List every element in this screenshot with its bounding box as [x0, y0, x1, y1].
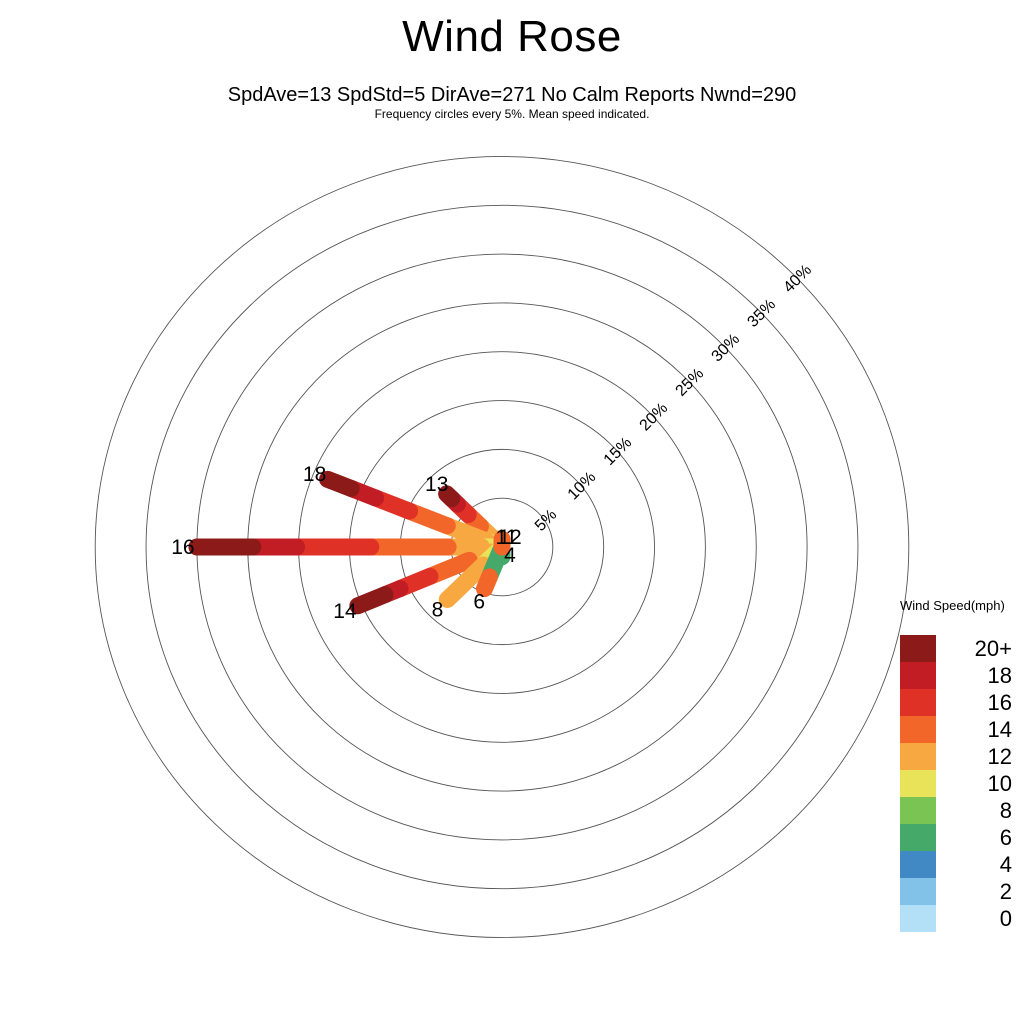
- legend-row: 0: [900, 905, 1018, 932]
- legend-entries: 20+181614121086420: [900, 635, 1018, 932]
- petal-segment: [358, 595, 385, 606]
- legend-label: 14: [936, 716, 1018, 743]
- legend-row: 2: [900, 878, 1018, 905]
- legend-label: 6: [936, 824, 1018, 851]
- legend-color-swatch: [900, 878, 936, 905]
- legend-label: 2: [936, 878, 1018, 905]
- legend-color-swatch: [900, 824, 936, 851]
- petal-segment: [328, 479, 352, 488]
- legend-title: Wind Speed(mph): [900, 598, 1024, 613]
- legend-color-swatch: [900, 797, 936, 824]
- legend-label: 16: [936, 689, 1018, 716]
- legend-label: 8: [936, 797, 1018, 824]
- petal-mean-speed-label: 8: [432, 598, 444, 621]
- legend: Wind Speed(mph) 20+181614121086420: [900, 598, 1024, 932]
- legend-row: 18: [900, 662, 1018, 689]
- legend-row: 16: [900, 689, 1018, 716]
- petal-segment: [484, 577, 489, 589]
- legend-color-swatch: [900, 662, 936, 689]
- petal-mean-speed-label: 12: [498, 526, 521, 549]
- legend-label: 20+: [936, 635, 1018, 662]
- legend-row: 12: [900, 743, 1018, 770]
- legend-row: 10: [900, 770, 1018, 797]
- legend-color-swatch: [900, 716, 936, 743]
- legend-label: 18: [936, 662, 1018, 689]
- legend-label: 10: [936, 770, 1018, 797]
- petal-mean-speed-label: 18: [303, 463, 326, 486]
- legend-color-swatch: [900, 905, 936, 932]
- legend-row: 8: [900, 797, 1018, 824]
- legend-color-swatch: [900, 635, 936, 662]
- legend-row: 6: [900, 824, 1018, 851]
- wind-rose-page: Wind Rose SpdAve=13 SpdStd=5 DirAve=271 …: [0, 0, 1024, 1024]
- legend-row: 4: [900, 851, 1018, 878]
- petal-mean-speed-label: 14: [333, 600, 357, 623]
- legend-color-swatch: [900, 743, 936, 770]
- legend-label: 4: [936, 851, 1018, 878]
- petal-mean-speed-label: 16: [171, 536, 194, 559]
- legend-row: 20+: [900, 635, 1018, 662]
- legend-color-swatch: [900, 851, 936, 878]
- legend-color-swatch: [900, 770, 936, 797]
- radial-axis-labels: 5%10%15%20%25%30%35%40%: [532, 262, 815, 535]
- polar-plot: 5%10%15%20%25%30%35%40% 111318161486412: [0, 0, 1024, 1024]
- legend-row: 14: [900, 716, 1018, 743]
- legend-label: 0: [936, 905, 1018, 932]
- wind-petals: [197, 479, 502, 605]
- legend-label: 12: [936, 743, 1018, 770]
- petal-mean-speed-label: 6: [473, 591, 485, 614]
- petal-mean-speed-label: 13: [425, 473, 448, 496]
- legend-color-swatch: [900, 689, 936, 716]
